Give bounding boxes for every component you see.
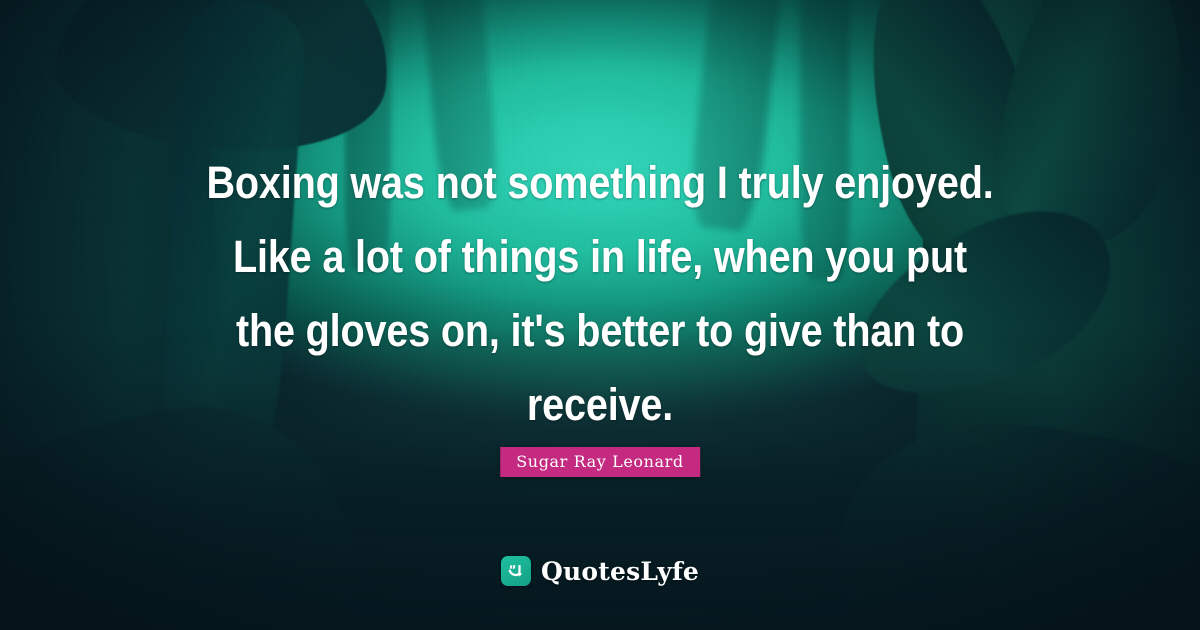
brand-name: QuotesLyfe [541, 557, 699, 586]
quote-line: Boxing was not something I truly enjoyed… [169, 146, 1031, 220]
quote-line: the gloves on, it's better to give than … [169, 294, 1031, 368]
author-badge: Sugar Ray Leonard [500, 447, 700, 477]
quote-line: Like a lot of things in life, when you p… [169, 220, 1031, 294]
quotes-smiley-icon [501, 556, 531, 586]
quote-text: Boxing was not something I truly enjoyed… [0, 146, 1200, 442]
quote-card: Boxing was not something I truly enjoyed… [0, 0, 1200, 630]
quote-line: receive. [169, 368, 1031, 442]
card-content: Boxing was not something I truly enjoyed… [0, 0, 1200, 630]
brand-logo[interactable]: QuotesLyfe [501, 556, 699, 586]
